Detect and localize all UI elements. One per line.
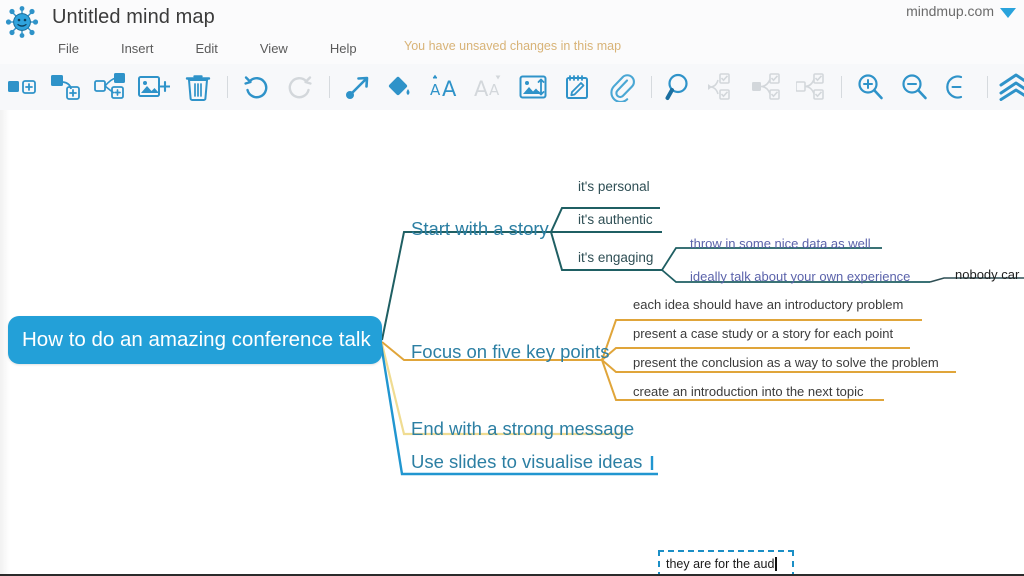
child-node-nobody-car[interactable]: nobody car <box>955 268 1019 281</box>
child-node-its-engaging[interactable]: it's engaging <box>578 251 653 265</box>
svg-text:A: A <box>442 77 457 100</box>
zoom-reset-icon[interactable] <box>936 65 980 109</box>
toolbar-divider <box>980 75 994 99</box>
child-node-its-personal[interactable]: it's personal <box>578 180 650 194</box>
menu-item-file[interactable]: File <box>48 41 89 56</box>
chevron-down-icon[interactable] <box>1000 8 1016 18</box>
app-header: Untitled mind map File Insert Edit View … <box>0 0 1024 64</box>
fill-color-bucket-icon[interactable] <box>380 65 424 109</box>
menu-item-view[interactable]: View <box>250 41 298 56</box>
note-edit-icon[interactable] <box>556 65 600 109</box>
child-label: throw in some nice data as well <box>690 236 871 251</box>
menu-item-help[interactable]: Help <box>320 41 367 56</box>
redo-icon[interactable] <box>278 65 322 109</box>
zoom-out-icon[interactable] <box>892 65 936 109</box>
search-magnifier-icon[interactable] <box>658 65 702 109</box>
branch-label: Start with a story <box>411 218 549 239</box>
child-node-its-authentic[interactable]: it's authentic <box>578 213 653 227</box>
insert-parent-idea-icon[interactable] <box>88 65 132 109</box>
branch-node-start-with-a-story[interactable]: Start with a story <box>411 220 549 239</box>
mindmup-app-window: Untitled mind map File Insert Edit View … <box>0 0 1024 576</box>
image-size-icon[interactable] <box>512 65 556 109</box>
root-node[interactable]: How to do an amazing conference talk <box>8 316 382 364</box>
node-text-editor[interactable]: they are for the aud <box>658 550 794 574</box>
toolbar-divider <box>644 75 658 99</box>
child-node-create-an-introduction-next-topic[interactable]: create an introduction into the next top… <box>633 385 864 398</box>
child-label: present a case study or a story for each… <box>633 326 893 341</box>
child-label: each idea should have an introductory pr… <box>633 297 903 312</box>
branch-node-use-slides-to-visualise-ideas[interactable]: Use slides to visualise ideas <box>411 453 642 472</box>
main-toolbar: A A A A <box>0 64 1024 110</box>
svg-text:A: A <box>474 77 489 100</box>
child-node-present-a-case-study[interactable]: present a case study or a story for each… <box>633 327 893 340</box>
undo-icon[interactable] <box>234 65 278 109</box>
brand-label[interactable]: mindmup.com <box>906 3 994 19</box>
map-title[interactable]: Untitled mind map <box>52 6 215 29</box>
zoom-in-icon[interactable] <box>848 65 892 109</box>
menu-item-edit[interactable]: Edit <box>185 41 227 56</box>
branch-label: End with a strong message <box>411 418 634 439</box>
decrease-font-size-icon[interactable]: A A <box>468 65 512 109</box>
svg-text:A: A <box>430 81 441 99</box>
attachment-paperclip-icon[interactable] <box>600 65 644 109</box>
menu-item-insert[interactable]: Insert <box>111 41 164 56</box>
child-label: it's engaging <box>578 250 653 265</box>
add-sibling-idea-icon[interactable] <box>0 65 44 109</box>
child-label: it's authentic <box>578 212 653 227</box>
branch-node-end-with-a-strong-message[interactable]: End with a strong message <box>411 420 634 439</box>
branch-node-focus-on-five-key-points[interactable]: Focus on five key points <box>411 343 609 362</box>
child-node-each-idea-introductory-problem[interactable]: each idea should have an introductory pr… <box>633 298 903 311</box>
child-label: ideally talk about your own experience <box>690 269 910 284</box>
child-label: create an introduction into the next top… <box>633 384 864 399</box>
mindmap-canvas[interactable]: How to do an amazing conference talk Sta… <box>0 110 1024 574</box>
menu-bar: File Insert Edit View Help <box>48 36 389 60</box>
child-node-throw-in-some-nice-data[interactable]: throw in some nice data as well <box>690 237 871 250</box>
line-style-arrow-icon[interactable] <box>336 65 380 109</box>
mindmup-bug-logo-icon[interactable] <box>2 2 42 42</box>
root-node-label: How to do an amazing conference talk <box>22 330 371 351</box>
text-cursor-caret <box>775 557 777 571</box>
toolbar-divider <box>322 75 336 99</box>
toolbar-divider <box>834 75 848 99</box>
add-image-icon[interactable] <box>132 65 176 109</box>
branch-label: Use slides to visualise ideas <box>411 451 642 472</box>
svg-text:A: A <box>489 81 500 99</box>
delete-trash-icon[interactable] <box>176 65 220 109</box>
increase-font-size-icon[interactable]: A A <box>424 65 468 109</box>
child-label: nobody car <box>955 267 1019 282</box>
chevrons-up-icon[interactable] <box>994 65 1024 109</box>
child-node-ideally-talk-about-experience[interactable]: ideally talk about your own experience <box>690 270 910 283</box>
child-label: present the conclusion as a way to solve… <box>633 355 939 370</box>
node-text-editor-value: they are for the aud <box>666 557 774 571</box>
unsaved-changes-status: You have unsaved changes in this map <box>404 39 621 53</box>
expand-all-icon[interactable] <box>790 65 834 109</box>
child-label: it's personal <box>578 179 650 194</box>
branch-label: Focus on five key points <box>411 341 609 362</box>
add-child-idea-icon[interactable] <box>44 65 88 109</box>
child-node-present-the-conclusion[interactable]: present the conclusion as a way to solve… <box>633 356 939 369</box>
collapse-all-icon[interactable] <box>702 65 746 109</box>
toolbar-divider <box>220 75 234 99</box>
focus-subtree-icon[interactable] <box>746 65 790 109</box>
